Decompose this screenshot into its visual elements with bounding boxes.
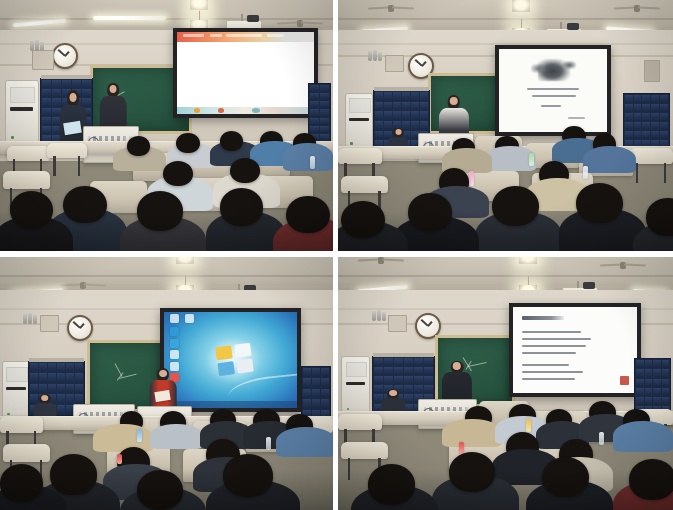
water-bottle	[266, 437, 271, 450]
photo-top-left[interactable]	[0, 0, 333, 251]
audience-member	[542, 457, 589, 497]
slide-text-line	[522, 331, 581, 333]
water-bottle	[469, 171, 474, 186]
desktop-icon[interactable]	[185, 314, 194, 323]
slide-text-line	[522, 364, 569, 366]
photo-bottom-left[interactable]	[0, 257, 333, 510]
ceiling-fan	[358, 257, 404, 264]
audience-member	[442, 419, 502, 447]
classroom-scene-bottom-right	[338, 257, 673, 510]
windows-desktop	[164, 312, 297, 408]
speaker-horn-icon	[23, 313, 37, 324]
classroom-scene-bottom-left	[0, 257, 333, 510]
audience-member	[576, 183, 623, 223]
wall-clock	[67, 315, 93, 341]
storage-panel-grid-right	[634, 358, 671, 416]
audience-member	[276, 427, 333, 457]
audience-member	[63, 186, 106, 224]
water-bottle	[137, 429, 142, 442]
speaker-horn-icon	[368, 50, 382, 61]
audience-member	[583, 146, 637, 174]
text-slide	[513, 307, 637, 393]
wall-junction-box	[32, 50, 54, 70]
empty-chair	[47, 143, 87, 176]
audience-member	[163, 161, 193, 186]
slide-text-line	[527, 88, 578, 90]
audience-member	[613, 421, 673, 451]
slide-text-line	[532, 95, 576, 97]
audience-member	[150, 424, 203, 449]
projection-screen[interactable]	[509, 303, 641, 397]
fluorescent-tube-light	[93, 16, 166, 20]
audience-member	[368, 464, 415, 504]
ceiling-fan	[277, 20, 323, 27]
audience-member	[283, 143, 333, 171]
audience-member	[93, 424, 153, 452]
water-bottle	[526, 419, 531, 432]
audience-member	[230, 158, 260, 183]
slide-text-line	[522, 371, 584, 373]
audience-member	[286, 196, 329, 234]
audience-member	[50, 454, 97, 494]
document-page	[177, 42, 314, 107]
projection-screen[interactable]	[495, 45, 610, 136]
slide-heading	[522, 316, 564, 320]
audience-member	[137, 191, 184, 231]
ceiling-beam	[338, 18, 673, 20]
storage-panel-grid-right	[308, 83, 331, 143]
water-bottle	[529, 153, 534, 166]
title-slide	[499, 49, 606, 132]
wall-junction-box	[40, 315, 59, 332]
audience-member	[223, 454, 273, 497]
desktop-icon[interactable]	[170, 314, 179, 323]
slide-text-line	[541, 105, 560, 107]
wall-junction-box	[388, 315, 407, 332]
pendant-light	[519, 257, 537, 264]
storage-panel-grid-right	[301, 366, 331, 422]
water-bottle	[117, 454, 122, 464]
air-conditioner	[5, 80, 39, 147]
slide-text-line	[522, 345, 586, 347]
desktop-icon[interactable]	[170, 350, 179, 359]
wall-clock	[52, 43, 78, 69]
audience-member	[137, 470, 184, 510]
slide-text-line	[522, 352, 577, 354]
photo-collage	[0, 0, 673, 510]
water-bottle	[459, 442, 464, 454]
ceiling-beam	[0, 275, 333, 277]
audience-member	[176, 133, 199, 153]
red-seal-stamp	[620, 376, 629, 385]
audience-member	[220, 131, 243, 151]
slide-text-line	[522, 338, 591, 340]
photo-top-right[interactable]	[338, 0, 673, 251]
windows-logo-icon	[215, 343, 253, 376]
ceiling-beam	[338, 275, 673, 277]
wall-junction-box	[385, 55, 404, 72]
water-bottle	[583, 166, 588, 179]
audience-member	[220, 188, 263, 226]
handout-paper	[63, 120, 81, 134]
slide-graphic	[538, 59, 570, 81]
pendant-light	[190, 0, 208, 10]
photo-bottom-right[interactable]	[338, 257, 673, 510]
audience-member	[0, 464, 43, 502]
pendant-light	[512, 0, 530, 12]
ceiling-fan	[60, 282, 106, 289]
projection-screen[interactable]	[173, 28, 318, 119]
air-conditioner	[345, 93, 374, 153]
audience-member	[127, 136, 150, 156]
audience-member	[341, 201, 385, 239]
pendant-light	[176, 257, 194, 264]
speaker-horn-icon	[372, 310, 386, 321]
ceiling-beam	[0, 284, 333, 287]
storage-panel-grid-right	[623, 93, 670, 151]
audience-member	[646, 198, 673, 236]
ceiling-fan	[368, 5, 414, 12]
wall-junction-box	[644, 60, 659, 82]
audience-member	[492, 186, 539, 226]
desktop-icon[interactable]	[170, 339, 179, 348]
desktop-icon[interactable]	[170, 327, 179, 336]
classroom-scene-top-left	[0, 0, 333, 251]
air-conditioner	[341, 356, 370, 419]
audience-member	[629, 459, 673, 499]
ceiling-fan	[600, 262, 646, 269]
audience-member	[449, 452, 496, 492]
slide-text-line	[522, 378, 575, 380]
window-statusbar	[177, 107, 314, 114]
window-toolbar	[177, 32, 314, 42]
audience-member	[408, 193, 452, 231]
air-conditioner	[2, 361, 31, 424]
slide-text-line	[568, 117, 585, 119]
ceiling-fan	[614, 5, 660, 12]
projection-screen[interactable]	[160, 308, 301, 412]
water-bottle	[310, 156, 315, 169]
audience-member	[10, 191, 53, 229]
water-bottle	[599, 432, 604, 445]
classroom-scene-top-right	[338, 0, 673, 251]
speaker-horn-icon	[30, 40, 45, 51]
